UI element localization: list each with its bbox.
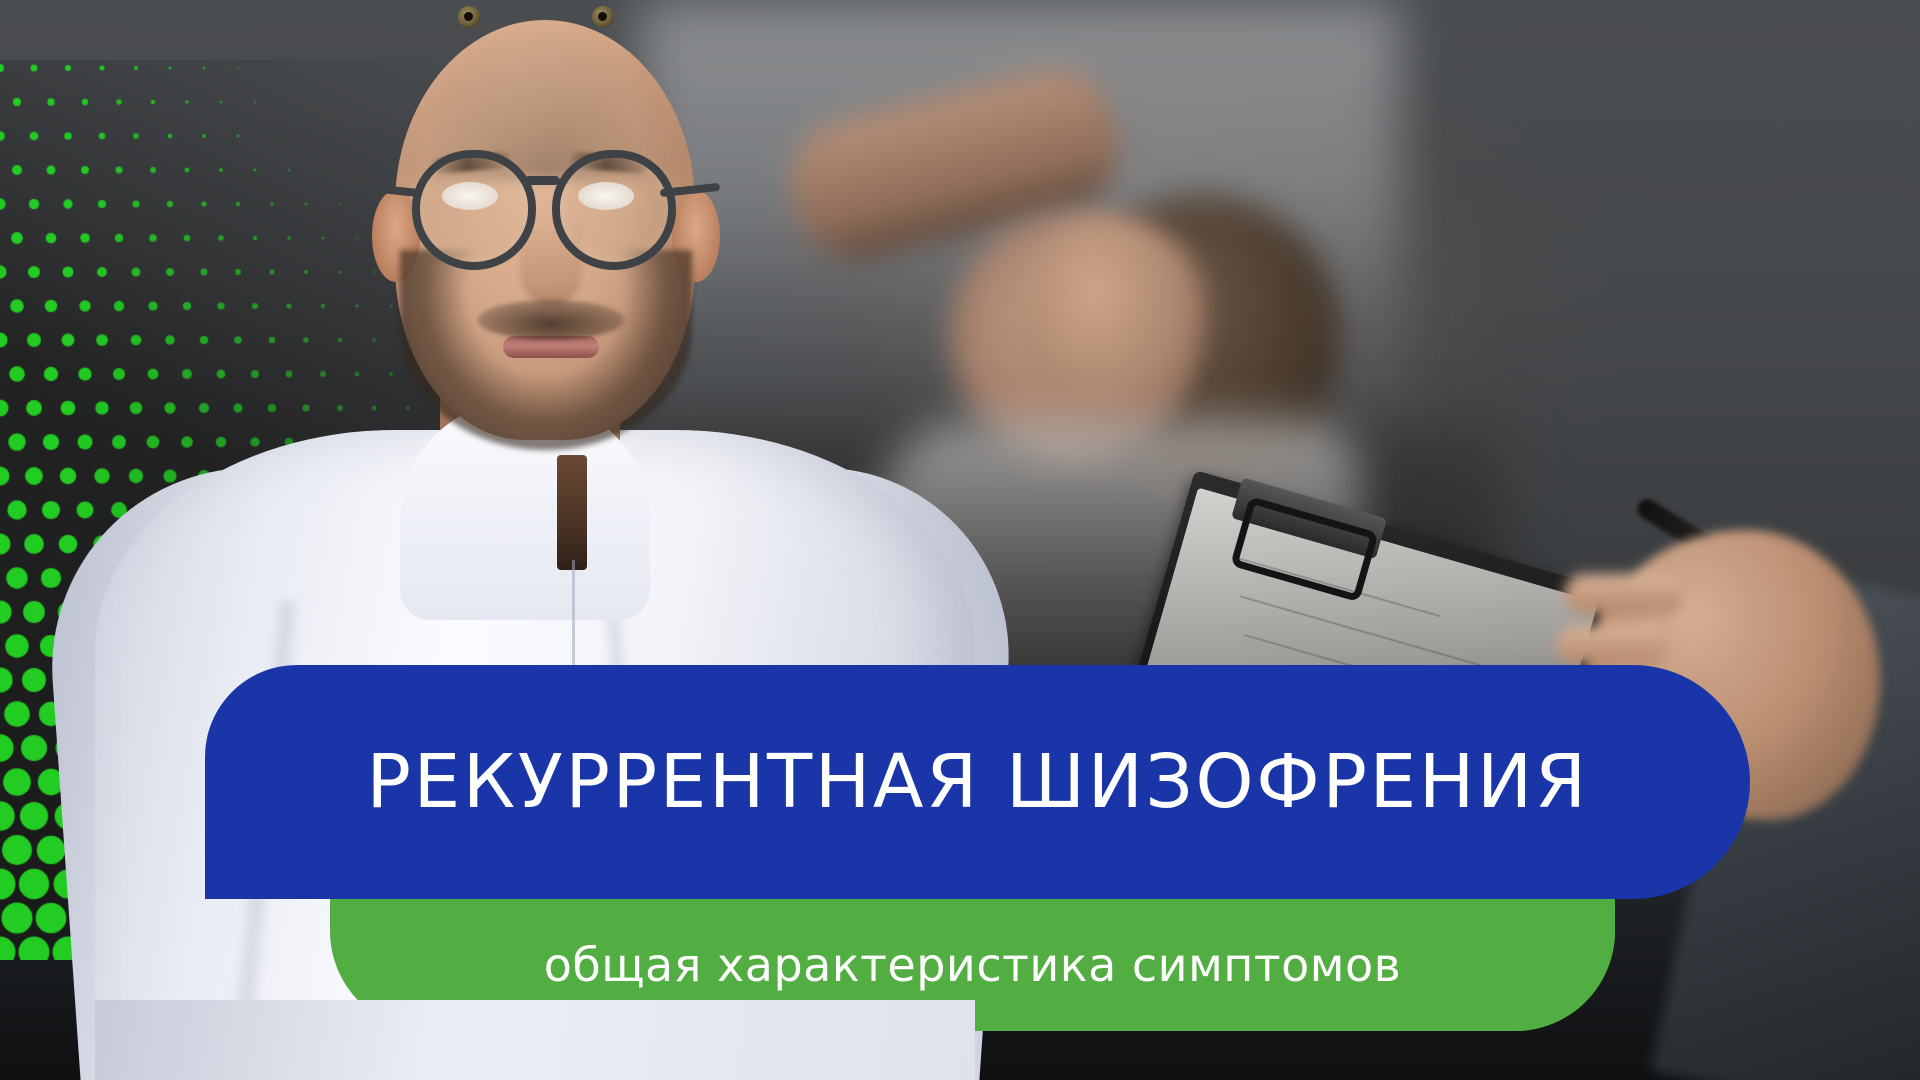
glasses-bridge <box>524 176 560 185</box>
title-banner: РЕКУРРЕНТНАЯ ШИЗОФРЕНИЯ <box>205 665 1750 899</box>
pupil-right <box>598 12 607 21</box>
glasses-lens-left <box>412 150 536 270</box>
finger <box>1564 574 1684 614</box>
page-subtitle: общая характеристика симптомов <box>544 938 1402 992</box>
glasses-lens-right <box>552 150 676 270</box>
pupil-left <box>464 12 473 21</box>
handwriting-line <box>1240 595 1481 666</box>
page-title: РЕКУРРЕНТНАЯ ШИЗОФРЕНИЯ <box>366 739 1588 825</box>
coat-lower-hem <box>95 1000 975 1080</box>
poster-canvas: РЕКУРРЕНТНАЯ ШИЗОФРЕНИЯ общая характерис… <box>0 0 1920 1080</box>
collar-notch <box>557 455 587 570</box>
moustache <box>478 300 624 340</box>
finger <box>1556 626 1668 664</box>
